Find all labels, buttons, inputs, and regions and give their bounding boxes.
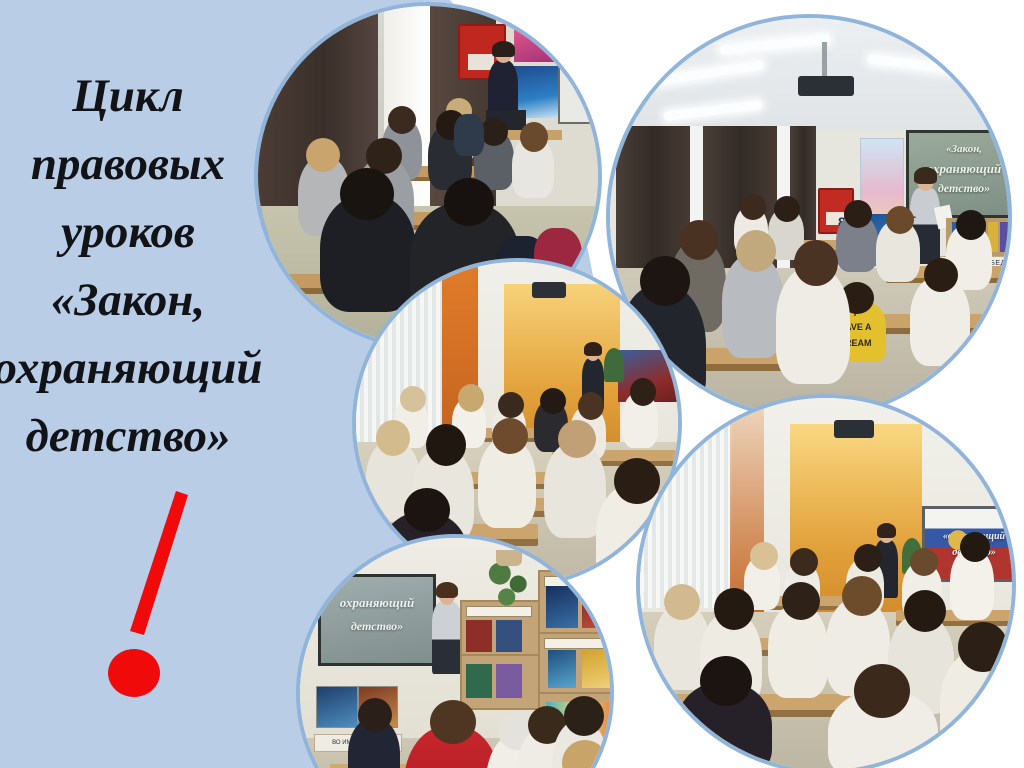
plant-pot bbox=[496, 550, 522, 566]
whiteboard bbox=[558, 54, 598, 124]
student-head bbox=[736, 230, 776, 272]
student-head bbox=[854, 544, 882, 572]
student-head bbox=[910, 548, 938, 576]
book bbox=[1000, 222, 1008, 252]
student-head bbox=[430, 700, 476, 744]
student-head bbox=[404, 488, 450, 532]
title-line-3: уроков bbox=[0, 198, 278, 266]
student-head bbox=[664, 584, 700, 620]
book-cover bbox=[582, 650, 610, 688]
exclamation-mark-icon bbox=[104, 487, 214, 697]
student-head bbox=[498, 392, 524, 418]
wall-poster-pink bbox=[514, 20, 558, 62]
title-line-5: охраняющий bbox=[0, 334, 278, 402]
book-cover bbox=[466, 620, 492, 652]
photo-circle-bottom-left[interactable]: охраняющий детство» bbox=[296, 534, 614, 768]
screen-text-line-1: «Закон, bbox=[909, 143, 1008, 155]
student-head bbox=[564, 696, 604, 736]
student-head bbox=[886, 206, 914, 234]
student-head bbox=[680, 220, 718, 260]
student-head bbox=[340, 168, 394, 220]
student-head bbox=[444, 178, 494, 226]
plant-icon bbox=[604, 348, 624, 382]
student-head bbox=[844, 200, 872, 228]
student-head bbox=[904, 590, 946, 632]
book-cover bbox=[582, 588, 610, 628]
student-head bbox=[458, 384, 484, 412]
photo-circle-bottom-right[interactable]: «охраняющий детство» bbox=[636, 394, 1016, 768]
student-head bbox=[924, 258, 958, 292]
student-head bbox=[842, 576, 882, 616]
student-head bbox=[790, 548, 818, 576]
student-head bbox=[480, 118, 508, 146]
window-blind bbox=[640, 408, 732, 608]
student-head bbox=[714, 588, 754, 630]
title-line-4: «Закон, bbox=[0, 266, 278, 334]
student-head bbox=[376, 420, 410, 456]
book-cover bbox=[546, 586, 578, 628]
student-head bbox=[520, 122, 548, 152]
page-title: Цикл правовых уроков «Закон, охраняющий … bbox=[0, 62, 278, 470]
poster-canvas: «Закон, охраняющий детство» 85 ЛЕТ ВО ИМ… bbox=[0, 0, 1024, 768]
classroom-scene-orange-curtains bbox=[356, 262, 678, 584]
title-line-1: Цикл bbox=[0, 62, 278, 130]
student-head bbox=[958, 622, 1008, 672]
library-scene: охраняющий детство» bbox=[300, 538, 610, 768]
student-head bbox=[578, 392, 604, 420]
student-head bbox=[740, 194, 766, 220]
projection-screen: охраняющий детство» bbox=[318, 574, 436, 666]
student-head bbox=[358, 698, 392, 732]
student-head bbox=[540, 388, 566, 414]
book-cover bbox=[496, 664, 522, 698]
student-head bbox=[956, 210, 986, 240]
student-head bbox=[400, 386, 426, 412]
student-head bbox=[388, 106, 416, 134]
projector-icon bbox=[834, 420, 874, 438]
student-head bbox=[426, 424, 466, 466]
title-line-2: правовых bbox=[0, 130, 278, 198]
student-head bbox=[960, 532, 990, 562]
wall-poster bbox=[316, 686, 358, 728]
student-head bbox=[854, 664, 910, 718]
screen-text-line-2: детство» bbox=[321, 619, 433, 634]
student-head bbox=[774, 196, 800, 222]
screen-text-line-1: охраняющий bbox=[321, 595, 433, 611]
projector-arm bbox=[822, 42, 827, 78]
student-head bbox=[794, 240, 838, 286]
backpack bbox=[454, 114, 484, 156]
student-head bbox=[492, 418, 528, 454]
student-head bbox=[558, 420, 596, 458]
projector-icon bbox=[532, 282, 566, 298]
title-line-6: детство» bbox=[0, 402, 278, 470]
classroom-scene-flag-screen: «охраняющий детство» bbox=[640, 398, 1012, 768]
book-cover bbox=[466, 664, 492, 698]
presenter-figure bbox=[432, 602, 462, 674]
projector-icon bbox=[798, 76, 854, 96]
student-head bbox=[782, 582, 820, 620]
student-head bbox=[306, 138, 340, 172]
student-head bbox=[700, 656, 752, 706]
book-cover bbox=[496, 620, 522, 652]
student-head bbox=[750, 542, 778, 570]
book-cover bbox=[548, 650, 576, 688]
shelf-label bbox=[544, 638, 610, 649]
